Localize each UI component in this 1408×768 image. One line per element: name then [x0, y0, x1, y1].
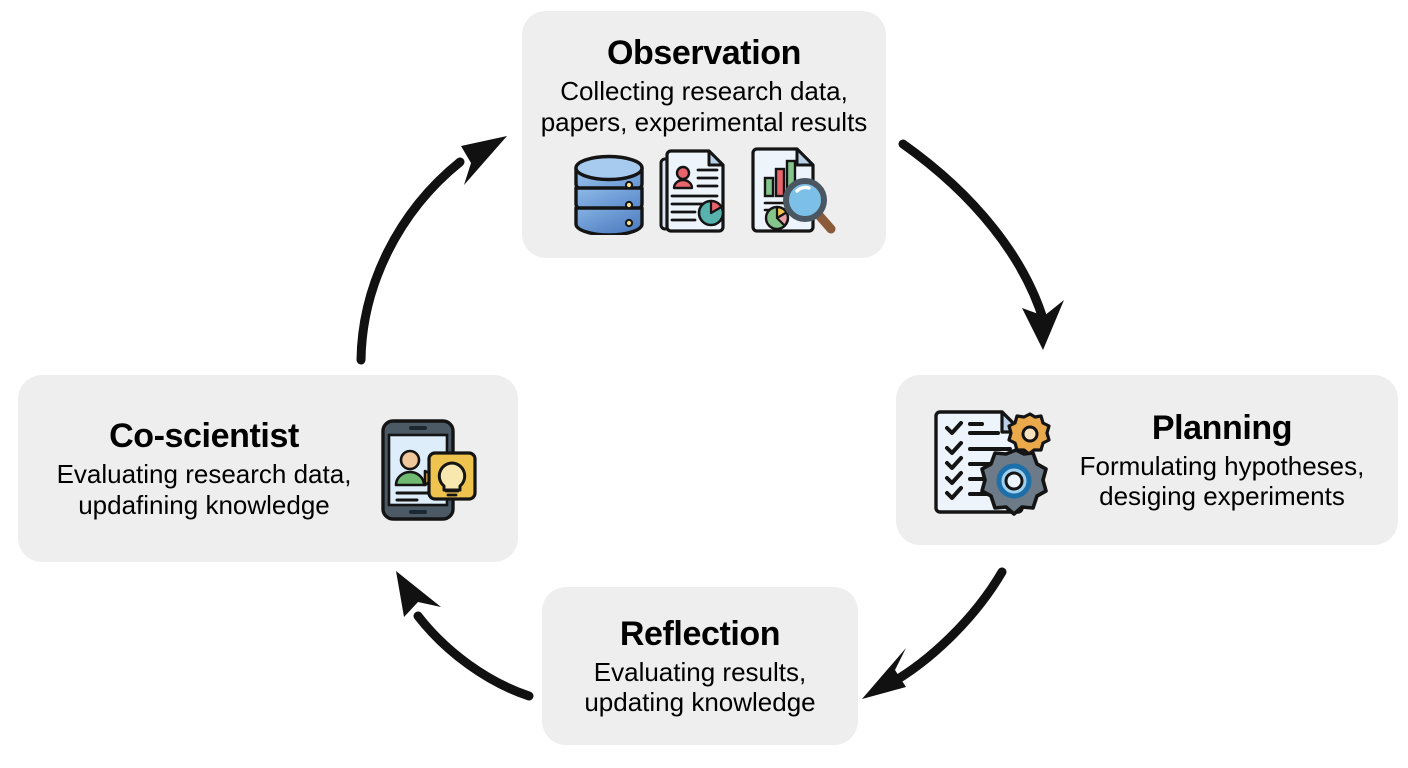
planning-title: Planning [1152, 409, 1292, 447]
coscientist-title: Co-scientist [109, 417, 299, 455]
node-reflection[interactable]: Reflection Evaluating results, updating … [542, 587, 858, 745]
observation-icons [571, 145, 837, 235]
observation-description: Collecting research data, papers, experi… [541, 76, 868, 136]
reflection-description: Evaluating results, updating knowledge [584, 657, 815, 717]
planning-description: Formulating hypotheses, desiging experim… [1080, 451, 1365, 511]
coscientist-description: Evaluating research data, updafining kno… [57, 459, 352, 519]
mobile-insight-icon [367, 413, 479, 525]
observation-title: Observation [607, 34, 801, 72]
research-paper-icon [657, 147, 737, 235]
small-gear [1009, 414, 1049, 454]
node-coscientist[interactable]: Co-scientist Evaluating research data, u… [18, 375, 518, 562]
database-icon [571, 151, 647, 235]
node-planning[interactable]: Planning Formulating hypotheses, desigin… [896, 375, 1398, 545]
arrow-observation-to-planning [903, 144, 1064, 350]
diagram-canvas: Observation Collecting research data, pa… [0, 0, 1408, 768]
data-analysis-icon [747, 145, 837, 235]
arrow-reflection-to-coscientist [396, 571, 529, 696]
reflection-title: Reflection [620, 615, 780, 653]
node-observation[interactable]: Observation Collecting research data, pa… [522, 11, 886, 258]
arrow-coscientist-to-observation [361, 136, 507, 360]
checklist-gears-icon [930, 404, 1058, 516]
arrow-planning-to-reflection [862, 572, 1002, 699]
